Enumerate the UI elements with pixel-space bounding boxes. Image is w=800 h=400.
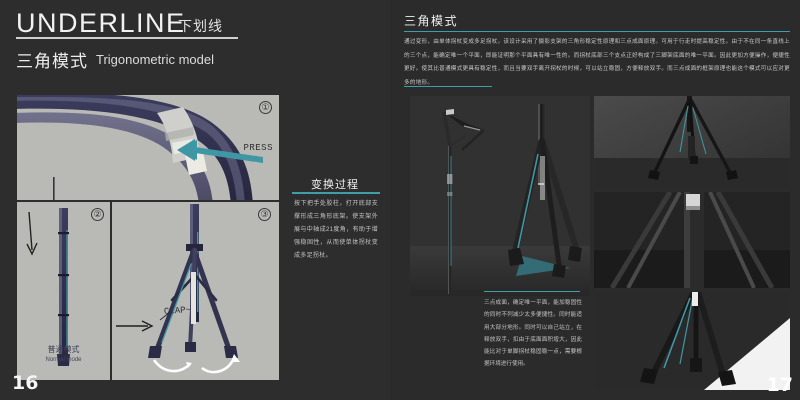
- right-page: 三角模式 通过变形，由单体拐杖变成多足拐杖。该设计采用了摄影支架的三角形稳定性原…: [390, 0, 800, 400]
- normal-mode-caption-en: Normal mode: [17, 356, 110, 364]
- hero-render-cane-and-tripod: [410, 96, 590, 296]
- photo-panel-press-handle: ① PRESS: [17, 95, 279, 200]
- right-page-heading-rule: [404, 31, 790, 32]
- panel-marker-2: ②: [91, 208, 104, 221]
- page-number-left: 16: [12, 372, 38, 394]
- tripod-deployed-illustration: [112, 202, 279, 380]
- title-underline-rule: [16, 37, 238, 39]
- cane-handle-illustration: [17, 95, 279, 200]
- subtitle-english: Trigonometric model: [96, 52, 214, 67]
- right-page-body-rule: [404, 86, 492, 87]
- right-page-heading: 三角模式: [404, 12, 458, 29]
- left-page: UNDERLINE 下划线 三角模式 Trigonometric model: [0, 0, 390, 400]
- photo-panel-tripod-mode: ③ CLAP~: [112, 202, 279, 380]
- normal-mode-caption: 普通模式 Normal mode: [17, 345, 110, 364]
- thumbnail-tripod-joint-closeup: [594, 192, 790, 288]
- portfolio-spread: UNDERLINE 下划线 三角模式 Trigonometric model: [0, 0, 800, 400]
- page-number-right: 17: [767, 374, 793, 396]
- thumbnail-tripod-full-view: [594, 96, 790, 188]
- thumbnail-tripod-foot-detail: [594, 292, 790, 390]
- panel-marker-1: ①: [259, 101, 272, 114]
- tripod-full-view-image: [594, 96, 790, 188]
- page-title-chinese: 下划线: [178, 16, 223, 36]
- transformation-body-text: 按下把手处胶柱，打开底部支撑形成三角形底架。使支架外展与中轴成21度角，有助于增…: [294, 198, 378, 262]
- page-title: UNDERLINE: [16, 8, 186, 39]
- press-annotation: PRESS: [243, 143, 273, 153]
- clap-annotation: CLAP~: [164, 305, 192, 317]
- panel-marker-3: ③: [258, 208, 271, 221]
- tripod-joint-closeup-image: [594, 192, 790, 288]
- right-page-body-text: 通过变形，由单体拐杖变成多足拐杖。该设计采用了摄影支架的三角形稳定性原理和三点成…: [404, 36, 790, 91]
- photo-panel-normal-mode: ② 普通模式 Normal mode: [17, 202, 110, 380]
- normal-mode-caption-cn: 普通模式: [17, 345, 110, 356]
- right-caption-rule: [484, 291, 580, 292]
- tripod-foot-detail-image: [594, 292, 790, 390]
- transformation-heading-rule: [292, 192, 380, 194]
- transformation-heading: 变换过程: [296, 176, 374, 192]
- right-caption-text: 三点成面，确定唯一平面，能加稳固性的同时不列减少太多便捷性。同时能适用大部分地形…: [484, 297, 582, 371]
- subtitle-chinese: 三角模式: [16, 47, 88, 72]
